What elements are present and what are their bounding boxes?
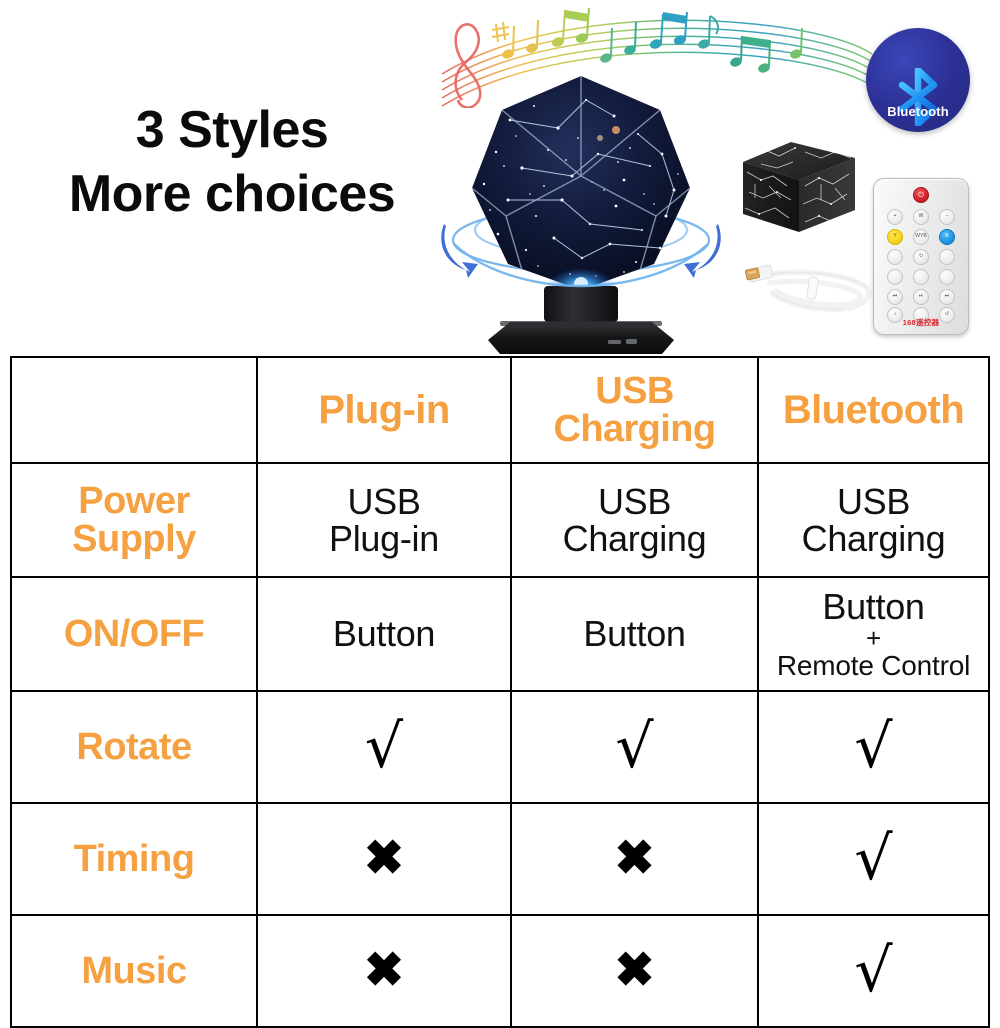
remote-model-label: 168遥控器 [874, 317, 968, 328]
feature-comparison-table: Plug-in USB Charging Bluetooth Power Sup… [10, 356, 990, 1028]
headline-line-1: 3 Styles [32, 100, 432, 160]
check-icon: √ [365, 717, 403, 777]
cell-onoff-plugin: Button [257, 577, 511, 691]
row-label-timing: Timing [11, 803, 257, 915]
cell-rotate-plugin: √ [257, 691, 511, 803]
remote-button-timer-10min[interactable] [887, 269, 903, 285]
cell-timing-plugin: ✖ [257, 803, 511, 915]
table-row-music: Music ✖ ✖ √ [11, 915, 989, 1027]
cell-power-plugin: USB Plug-in [257, 463, 511, 577]
cross-icon: ✖ [364, 835, 404, 883]
table-row-rotate: Rotate √ √ √ [11, 691, 989, 803]
cross-icon: ✖ [614, 947, 654, 995]
cell-timing-bluetooth: √ [758, 803, 989, 915]
row-label-rotate: Rotate [11, 691, 257, 803]
check-icon: √ [854, 941, 892, 1001]
bluetooth-badge-label: Bluetooth [866, 104, 970, 119]
bluetooth-badge: Bluetooth [866, 28, 970, 132]
star-projector-lamp [438, 58, 724, 354]
table-row-timing: Timing ✖ ✖ √ [11, 803, 989, 915]
cell-onoff-bt-plus: + [763, 625, 984, 651]
cell-music-usb: ✖ [511, 915, 758, 1027]
cell-power-bluetooth: USB Charging [758, 463, 989, 577]
table-row-power-supply: Power Supply USB Plug-in USB Charging US… [11, 463, 989, 577]
row-label-power-supply: Power Supply [11, 463, 257, 577]
remote-button-plus[interactable]: + [887, 209, 903, 225]
usb-cable [742, 245, 882, 323]
check-icon: √ [854, 829, 892, 889]
column-header-usb-line1: USB [516, 372, 753, 410]
row-label-onoff: ON/OFF [11, 577, 257, 691]
cell-rotate-bluetooth: √ [758, 691, 989, 803]
check-icon: √ [854, 717, 892, 777]
cell-onoff-bluetooth: Button + Remote Control [758, 577, 989, 691]
remote-button-minus[interactable]: − [939, 209, 955, 225]
cell-timing-usb: ✖ [511, 803, 758, 915]
remote-power-button[interactable]: ⏻ [913, 187, 929, 203]
row-label-power-line1: Power [16, 482, 252, 520]
cell-rotate-usb: √ [511, 691, 758, 803]
headline-line-2: More choices [32, 164, 432, 224]
cell-music-bluetooth: √ [758, 915, 989, 1027]
constellation-gift-box [735, 128, 861, 238]
remote-button-wyb[interactable]: WYB [913, 229, 929, 245]
column-header-plugin: Plug-in [257, 357, 511, 463]
cell-onoff-usb: Button [511, 577, 758, 691]
row-label-music: Music [11, 915, 257, 1027]
remote-button-rotate[interactable]: ↻ [913, 249, 929, 265]
cell-music-plugin: ✖ [257, 915, 511, 1027]
remote-button-w[interactable]: W [913, 209, 929, 225]
remote-button-fast-color[interactable] [887, 249, 903, 265]
remote-button-play-pause[interactable]: ⏯ [913, 289, 929, 305]
remote-button-next[interactable]: ⏭ [939, 289, 955, 305]
check-icon: √ [615, 717, 653, 777]
column-header-usb-charging: USB Charging [511, 357, 758, 463]
remote-button-timer-60min[interactable] [939, 269, 955, 285]
cell-power-usb: USB Charging [511, 463, 758, 577]
remote-button-previous[interactable]: ⏮ [887, 289, 903, 305]
cross-icon: ✖ [364, 947, 404, 995]
remote-button-b[interactable]: B [939, 229, 955, 245]
remote-button-fade[interactable] [939, 249, 955, 265]
table-row-onoff: ON/OFF Button Button Button + Remote Con… [11, 577, 989, 691]
cell-onoff-bt-line1: Button [763, 588, 984, 625]
table-header-row: Plug-in USB Charging Bluetooth [11, 357, 989, 463]
column-header-bluetooth: Bluetooth [758, 357, 989, 463]
cross-icon: ✖ [614, 835, 654, 883]
row-label-power-line2: Supply [16, 520, 252, 558]
page-headline: 3 Styles More choices [32, 100, 432, 225]
table-corner-cell [11, 357, 257, 463]
remote-button-y[interactable]: Y [887, 229, 903, 245]
remote-control[interactable]: ⏻ + W − Y WYB B ↻ ⏮ ⏯ ⏭ ♪ ↺ 168遥控器 [873, 178, 969, 335]
column-header-usb-line2: Charging [516, 410, 753, 448]
remote-button-volume-up[interactable] [913, 269, 929, 285]
cell-onoff-bt-line2: Remote Control [763, 651, 984, 680]
